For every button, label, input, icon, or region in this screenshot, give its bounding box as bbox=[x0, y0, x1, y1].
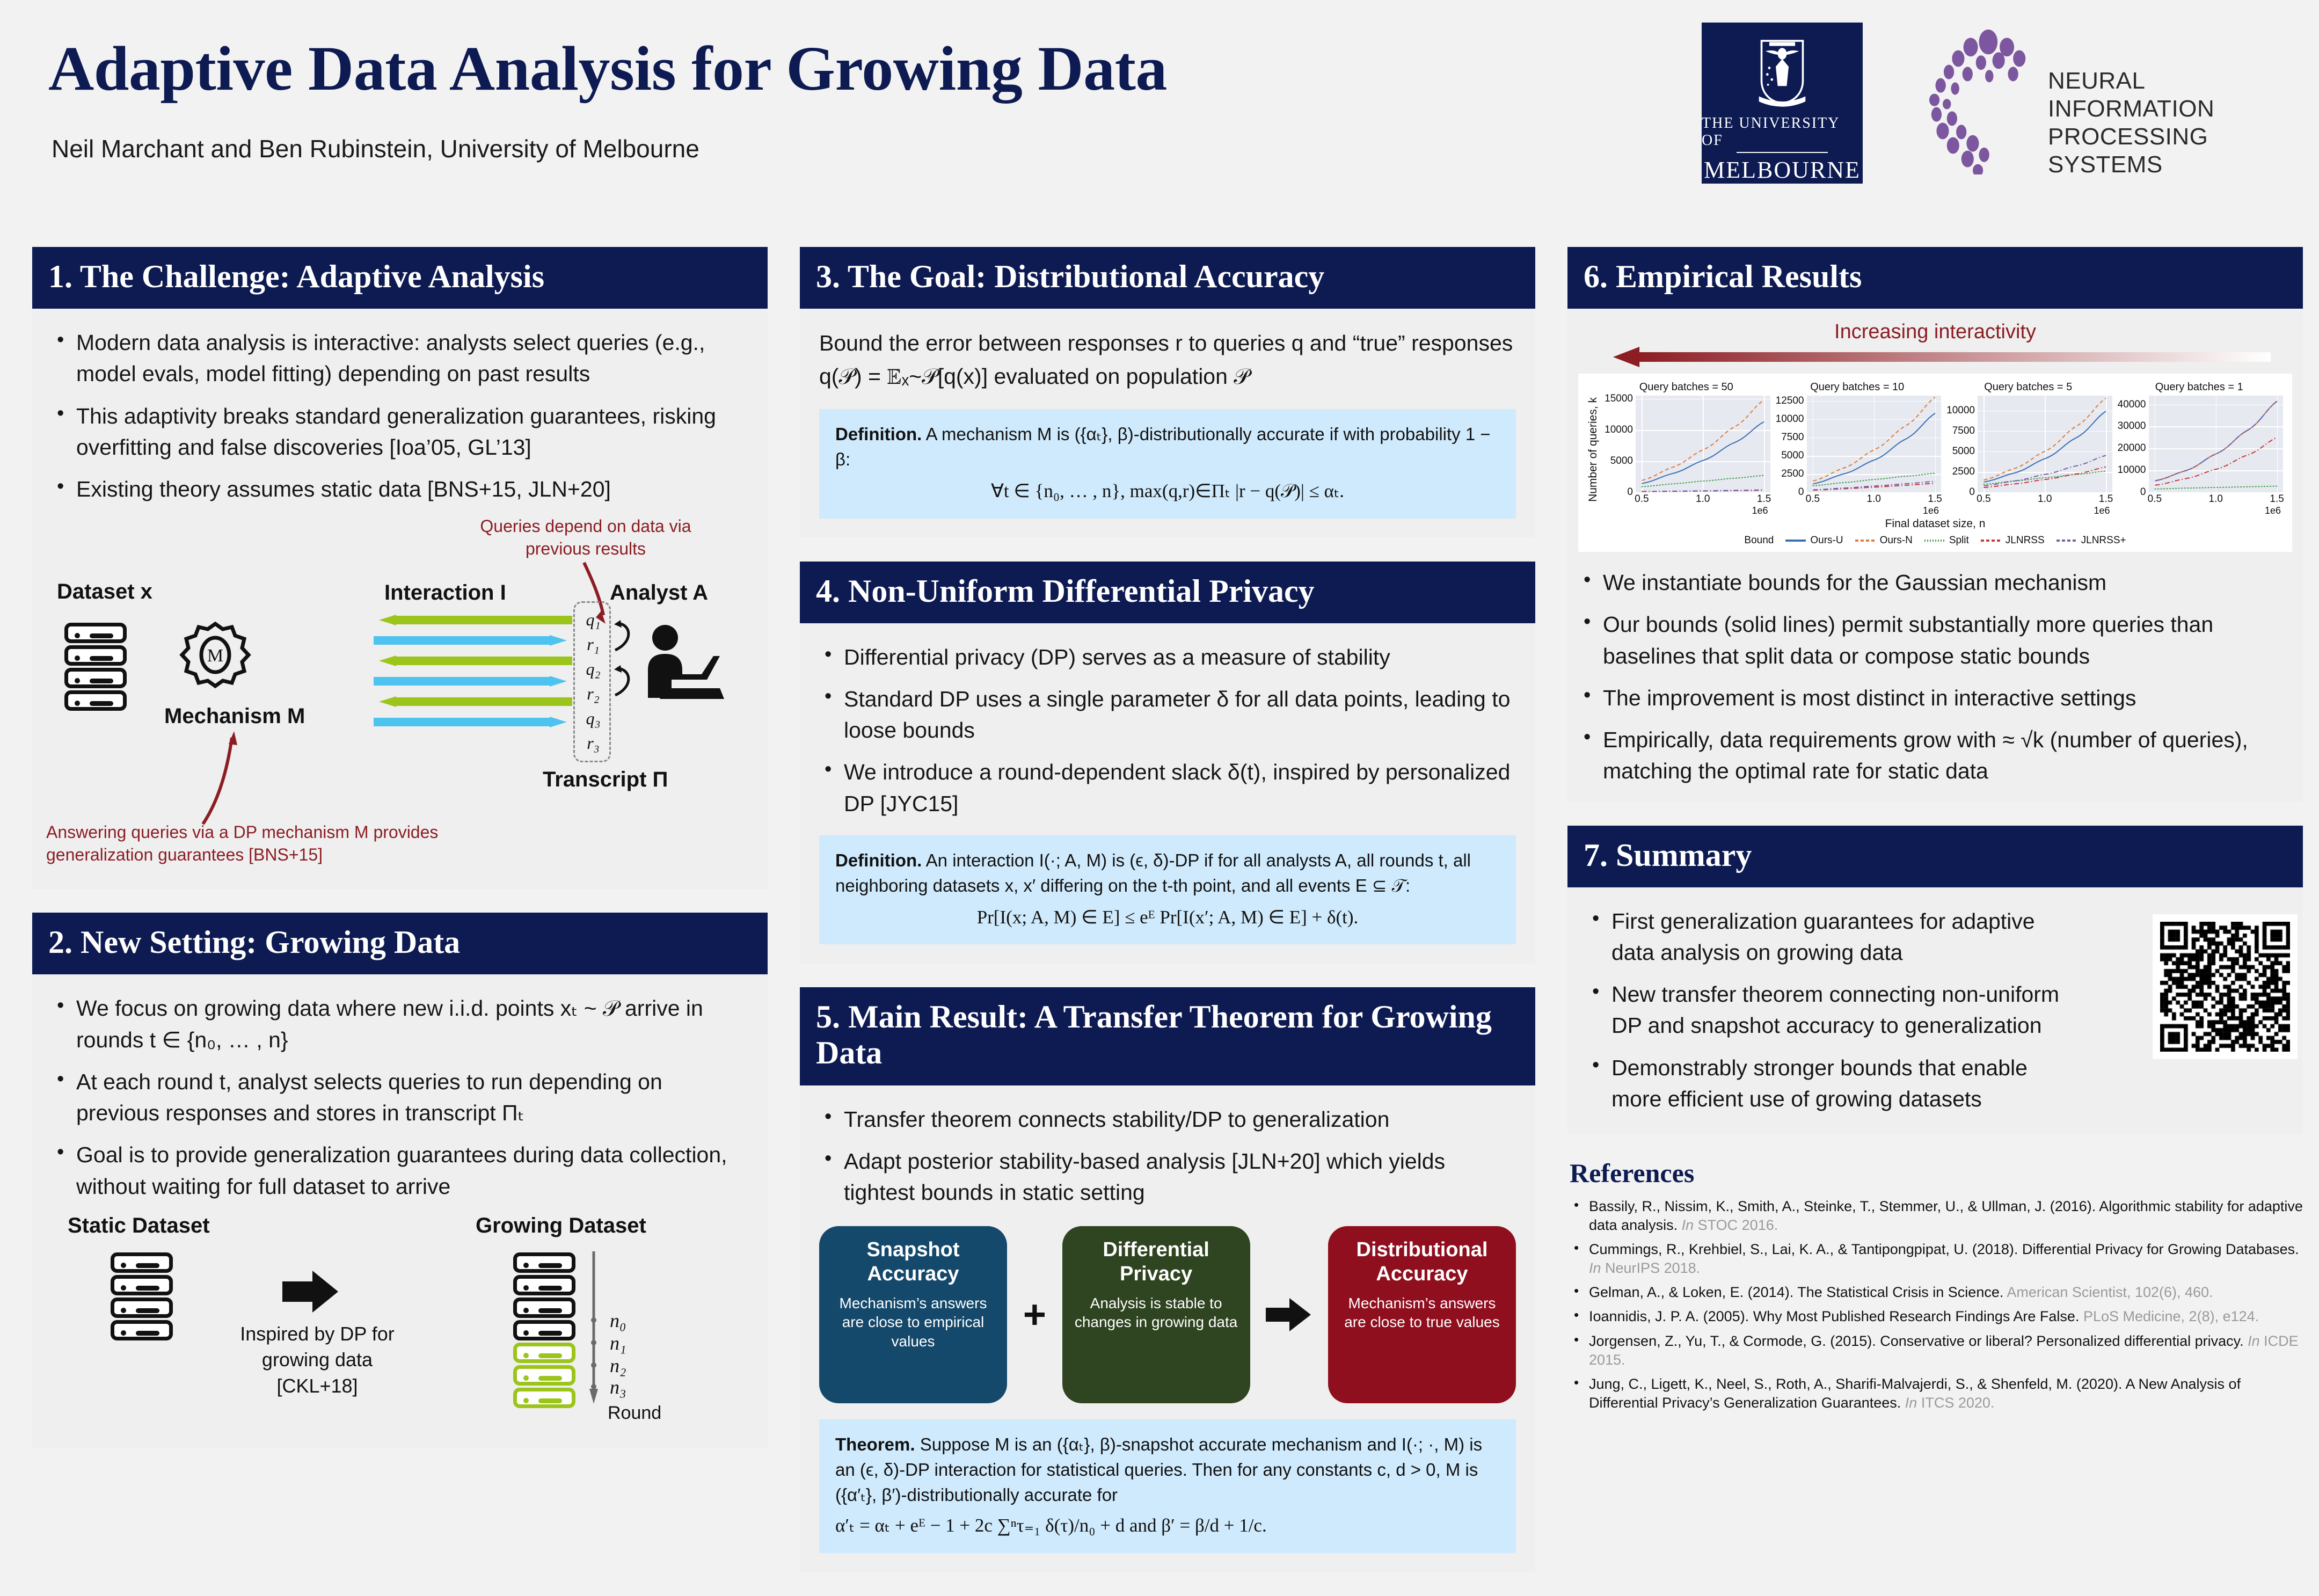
x-ticks: 0.51.01.5 bbox=[1636, 492, 1770, 505]
section-2-bullets: We focus on growing data where new i.i.d… bbox=[52, 993, 748, 1201]
db-unit bbox=[64, 668, 127, 688]
chart-subplot: Query batches = 500500010000150000.51.01… bbox=[1601, 381, 1772, 516]
series-line bbox=[2155, 486, 2277, 489]
interaction-label: Interaction I bbox=[384, 581, 506, 605]
neurips-wordmark-line2: PROCESSING SYSTEMS bbox=[2048, 123, 2298, 179]
increasing-interactivity-label: Increasing interactivity bbox=[1578, 320, 2292, 344]
y-tick-label: 0 bbox=[1969, 486, 1975, 498]
db-unit bbox=[111, 1252, 173, 1273]
neurips-swirl-icon bbox=[1922, 30, 2051, 174]
reference-item: Ioannidis, J. P. A. (2005). Why Most Pub… bbox=[1567, 1307, 2303, 1326]
list-item: At each round t, analyst selects queries… bbox=[52, 1066, 748, 1128]
x-tick-label: 1.0 bbox=[2209, 493, 2223, 505]
section-3-goal: 3. The Goal: Distributional Accuracy Bou… bbox=[800, 247, 1535, 538]
section-4-bullets: Differential privacy (DP) serves as a me… bbox=[819, 642, 1516, 819]
neurips-wordmark: NEURAL INFORMATION PROCESSING SYSTEMS bbox=[2048, 67, 2298, 179]
flow-box-title: Distributional Accuracy bbox=[1336, 1238, 1508, 1286]
subplot-title: Query batches = 50 bbox=[1602, 381, 1770, 393]
diagram-annotation-top: Queries depend on data via previous resu… bbox=[460, 515, 712, 560]
list-item: Existing theory assumes static data [BNS… bbox=[52, 473, 748, 505]
neurips-wordmark-line1: NEURAL INFORMATION bbox=[2048, 67, 2298, 123]
interaction-diagram: Queries depend on data via previous resu… bbox=[52, 515, 748, 870]
interactivity-gradient-arrow bbox=[1610, 346, 2271, 368]
flow-box-title: Differential Privacy bbox=[1070, 1238, 1243, 1286]
empirical-results-chart: Number of queries, k Query batches = 500… bbox=[1578, 374, 2292, 552]
references-section: References Bassily, R., Nissim, K., Smit… bbox=[1567, 1157, 2303, 1412]
chart-y-axis-label: Number of queries, k bbox=[1586, 381, 1601, 506]
db-unit bbox=[513, 1320, 575, 1340]
y-tick-label: 10000 bbox=[2118, 464, 2146, 476]
x-tick-label: 1.5 bbox=[1757, 493, 1771, 505]
y-ticks: 025005000750010000 bbox=[1944, 396, 1978, 492]
x-tick-label: 0.5 bbox=[2148, 493, 2162, 505]
transcript-item: q₃ bbox=[578, 709, 609, 728]
growing-dataset-stack-icon bbox=[513, 1252, 575, 1408]
db-unit-new bbox=[513, 1388, 575, 1408]
unimelb-wordmark-line1: THE UNIVERSITY OF bbox=[1702, 115, 1863, 149]
column-middle: 3. The Goal: Distributional Accuracy Bou… bbox=[800, 247, 1535, 1596]
flow-box-snapshot-accuracy: Snapshot Accuracy Mechanism’s answers ar… bbox=[819, 1226, 1007, 1403]
plot-area bbox=[1978, 396, 2112, 492]
references-title: References bbox=[1570, 1157, 2303, 1189]
legend-item: Ours-N bbox=[1855, 535, 1913, 546]
x-axis-exponent: 1e6 bbox=[1774, 505, 1939, 516]
definition-box-nonuniform-dp: Definition. An interaction I(·; A, M) is… bbox=[819, 835, 1516, 944]
db-unit bbox=[513, 1298, 575, 1318]
section-3-body: Bound the error between responses r to q… bbox=[800, 309, 1535, 537]
definition-body: A mechanism M is ({αₜ}, β)-distributiona… bbox=[835, 424, 1491, 469]
legend-swatch bbox=[1855, 540, 1876, 542]
column-left: 1. The Challenge: Adaptive Analysis Mode… bbox=[32, 247, 768, 1471]
section-2-new-setting: 2. New Setting: Growing Data We focus on… bbox=[32, 913, 768, 1448]
references-list: Bassily, R., Nissim, K., Smith, A., Stei… bbox=[1567, 1197, 2303, 1412]
analyst-person-icon bbox=[639, 623, 731, 719]
chart-subplot: Query batches = 100250050007500100001250… bbox=[1772, 381, 1943, 516]
flow-box-subtitle: Analysis is stable to changes in growing… bbox=[1070, 1294, 1243, 1332]
y-tick-label: 0 bbox=[1798, 486, 1804, 498]
y-tick-label: 2500 bbox=[1952, 466, 1975, 478]
list-item: Adapt posterior stability-based analysis… bbox=[819, 1146, 1516, 1208]
mechanism-gear-icon: M bbox=[178, 621, 253, 696]
list-item: Our bounds (solid lines) permit substant… bbox=[1578, 609, 2292, 671]
y-tick-label: 7500 bbox=[1781, 432, 1804, 443]
mechanism-label: Mechanism M bbox=[164, 704, 305, 728]
y-tick-label: 0 bbox=[2140, 486, 2146, 498]
flow-box-title: Snapshot Accuracy bbox=[827, 1238, 1000, 1286]
y-tick-label: 10000 bbox=[1946, 405, 1975, 417]
chart-x-axis-label: Final dataset size, n bbox=[1586, 518, 2285, 530]
chart-legend: BoundOurs-UOurs-NSplitJLNRSSJLNRSS+ bbox=[1586, 535, 2285, 546]
section-2-heading: 2. New Setting: Growing Data bbox=[32, 913, 768, 974]
section-1-body: Modern data analysis is interactive: ana… bbox=[32, 309, 768, 889]
definition-equation: Pr[I(x; A, M) ∈ E] ≤ eᴱ Pr[I(x′; A, M) ∈… bbox=[835, 904, 1500, 931]
chart-plot-row: Number of queries, k Query batches = 500… bbox=[1586, 381, 2285, 516]
theorem-equation: α′ₜ = αₜ + eᴱ − 1 + 2c ∑ⁿτ₌₁ δ(τ)/n₀ + d… bbox=[835, 1512, 1500, 1539]
unimelb-wordmark-line2: MELBOURNE bbox=[1704, 156, 1861, 184]
subplot-title: Query batches = 5 bbox=[1944, 381, 2112, 393]
legend-swatch bbox=[2057, 540, 2077, 542]
section-4-nonuniform-dp: 4. Non-Uniform Differential Privacy Diff… bbox=[800, 562, 1535, 964]
melbourne-crest-icon bbox=[1742, 34, 1822, 112]
reference-item: Bassily, R., Nissim, K., Smith, A., Stei… bbox=[1567, 1197, 2303, 1235]
x-tick-label: 0.5 bbox=[1977, 493, 1990, 505]
y-ticks: 050001000015000 bbox=[1602, 396, 1636, 492]
y-ticks: 010000200003000040000 bbox=[2116, 396, 2149, 492]
db-unit bbox=[111, 1320, 173, 1340]
section-7-summary: 7. Summary First generalization guarante… bbox=[1567, 826, 2303, 1134]
list-item: First generalization guarantees for adap… bbox=[1587, 906, 2070, 968]
x-tick-label: 1.0 bbox=[1867, 493, 1881, 505]
list-item: This adaptivity breaks standard generali… bbox=[52, 400, 748, 463]
series-line bbox=[1813, 397, 1935, 481]
x-tick-label: 0.5 bbox=[1806, 493, 1820, 505]
definition-box-distributional-accuracy: Definition. A mechanism M is ({αₜ}, β)-d… bbox=[819, 409, 1516, 518]
transcript-items: q₁ r₁ q₂ r₂ q₃ r₃ bbox=[578, 610, 609, 753]
static-dataset-stack-icon bbox=[111, 1252, 173, 1340]
flow-box-subtitle: Mechanism’s answers are close to true va… bbox=[1336, 1294, 1508, 1332]
legend-label: JLNRSS+ bbox=[2081, 535, 2126, 546]
transcript-item: q₁ bbox=[578, 610, 609, 630]
definition-equation: ∀t ∈ {n₀, … , n}, max(q,r)∈Πₜ |r − q(𝒫)|… bbox=[835, 478, 1500, 505]
neurips-logo: NEURAL INFORMATION PROCESSING SYSTEMS bbox=[1922, 30, 2298, 174]
section-3-heading: 3. The Goal: Distributional Accuracy bbox=[800, 247, 1535, 309]
legend-swatch bbox=[1785, 540, 1806, 542]
db-unit bbox=[111, 1298, 173, 1318]
x-tick-label: 1.5 bbox=[2270, 493, 2284, 505]
section-4-body: Differential privacy (DP) serves as a me… bbox=[800, 623, 1535, 964]
theorem-box: Theorem. Suppose M is an ({αₜ}, β)-snaps… bbox=[819, 1419, 1516, 1553]
series-line bbox=[1642, 490, 1764, 492]
list-item: New transfer theorem connecting non-unif… bbox=[1587, 979, 2070, 1041]
section-2-body: We focus on growing data where new i.i.d… bbox=[32, 974, 768, 1447]
svg-text:M: M bbox=[207, 646, 223, 666]
y-tick-label: 40000 bbox=[2118, 399, 2146, 411]
db-unit bbox=[513, 1252, 575, 1273]
author-line: Neil Marchant and Ben Rubinstein, Univer… bbox=[52, 134, 699, 163]
x-axis-exponent: 1e6 bbox=[1602, 505, 1768, 516]
annotation-arrow-bottom-icon bbox=[192, 730, 257, 827]
y-tick-label: 15000 bbox=[1605, 393, 1633, 405]
y-tick-label: 12500 bbox=[1776, 395, 1804, 407]
y-tick-label: 5000 bbox=[1781, 450, 1804, 462]
chart-subplot: Query batches = 50250050007500100000.51.… bbox=[1943, 381, 2114, 516]
list-item: Goal is to provide generalization guaran… bbox=[52, 1139, 748, 1201]
series-lines bbox=[2149, 396, 2284, 492]
definition-lead: Definition. bbox=[835, 850, 922, 870]
legend-label: Ours-U bbox=[1810, 535, 1843, 546]
round-axis-label: Round bbox=[608, 1403, 661, 1424]
legend-item: Ours-U bbox=[1785, 535, 1843, 546]
list-item: We focus on growing data where new i.i.d… bbox=[52, 993, 748, 1055]
section-5-heading: 5. Main Result: A Transfer Theorem for G… bbox=[800, 987, 1535, 1085]
section-7-body: First generalization guarantees for adap… bbox=[1567, 887, 2303, 1134]
list-item: The improvement is most distinct in inte… bbox=[1578, 682, 2292, 713]
db-unit bbox=[111, 1275, 173, 1295]
y-tick-label: 5000 bbox=[1952, 446, 1975, 457]
analyst-label: Analyst A bbox=[610, 581, 708, 605]
university-of-melbourne-logo: THE UNIVERSITY OF MELBOURNE bbox=[1702, 23, 1863, 184]
chart-subplots: Query batches = 500500010000150000.51.01… bbox=[1601, 381, 2285, 516]
y-tick-label: 7500 bbox=[1952, 425, 1975, 437]
section-1-bullets: Modern data analysis is interactive: ana… bbox=[52, 327, 748, 505]
subplot-title: Query batches = 10 bbox=[1774, 381, 1942, 393]
diagram-annotation-bottom: Answering queries via a DP mechanism M p… bbox=[46, 821, 486, 866]
dataset-label: Dataset x bbox=[57, 580, 152, 604]
legend-item: JLNRSS+ bbox=[2057, 535, 2126, 546]
x-tick-label: 0.5 bbox=[1635, 493, 1649, 505]
reference-item: Jung, C., Ligett, K., Neel, S., Roth, A.… bbox=[1567, 1375, 2303, 1412]
chart-subplot: Query batches = 10100002000030000400000.… bbox=[2114, 381, 2285, 516]
growing-dataset-diagram: Static Dataset Inspired by DP for growin… bbox=[52, 1214, 748, 1429]
y-tick-label: 2500 bbox=[1781, 468, 1804, 480]
section-3-paragraph: Bound the error between responses r to q… bbox=[819, 327, 1516, 393]
plus-icon: + bbox=[1023, 1295, 1046, 1335]
legend-item: Split bbox=[1924, 535, 1969, 546]
round-label-n0: n₀ bbox=[610, 1309, 626, 1332]
series-lines bbox=[1978, 396, 2112, 492]
list-item: Transfer theorem connects stability/DP t… bbox=[819, 1104, 1516, 1135]
plot-area bbox=[1807, 396, 1942, 492]
transcript-item: q₂ bbox=[578, 659, 609, 679]
y-tick-label: 20000 bbox=[2118, 442, 2146, 454]
db-unit-new bbox=[513, 1365, 575, 1386]
section-6-heading: 6. Empirical Results bbox=[1567, 247, 2303, 309]
transcript-item: r₂ bbox=[578, 684, 609, 704]
series-lines bbox=[1636, 396, 1770, 492]
theorem-body: Suppose M is an ({αₜ}, β)-snapshot accur… bbox=[835, 1434, 1482, 1505]
definition-lead: Definition. bbox=[835, 424, 922, 444]
definition-body: An interaction I(·; A, M) is (ϵ, δ)-DP i… bbox=[835, 850, 1471, 895]
transition-arrow-icon bbox=[282, 1267, 341, 1316]
reference-item: Jorgensen, Z., Yu, T., & Cormode, G. (20… bbox=[1567, 1332, 2303, 1369]
db-unit bbox=[64, 623, 127, 643]
legend-item: JLNRSS bbox=[1981, 535, 2045, 546]
plot-area bbox=[1636, 396, 1770, 492]
growing-dataset-label: Growing Dataset bbox=[476, 1214, 646, 1238]
round-label-n2: n₂ bbox=[610, 1354, 626, 1377]
implies-arrow-icon bbox=[1266, 1296, 1312, 1333]
transfer-flow-diagram: Snapshot Accuracy Mechanism’s answers ar… bbox=[819, 1226, 1516, 1403]
column-right: 6. Empirical Results Increasing interact… bbox=[1567, 247, 2303, 1418]
x-tick-label: 1.5 bbox=[1928, 493, 1942, 505]
list-item: We instantiate bounds for the Gaussian m… bbox=[1578, 567, 2292, 598]
transcript-label: Transcript Π bbox=[543, 768, 668, 792]
x-ticks: 0.51.01.5 bbox=[1978, 492, 2112, 505]
list-item: Empirically, data requirements grow with… bbox=[1578, 724, 2292, 786]
round-label-n1: n₁ bbox=[610, 1332, 626, 1354]
poster-root: Adaptive Data Analysis for Growing Data … bbox=[0, 0, 2319, 1546]
section-5-body: Transfer theorem connects stability/DP t… bbox=[800, 1085, 1535, 1572]
round-label-n3: n₃ bbox=[610, 1376, 626, 1398]
series-line bbox=[1642, 422, 1764, 484]
section-6-bullets: We instantiate bounds for the Gaussian m… bbox=[1578, 567, 2292, 786]
flow-box-distributional-accuracy: Distributional Accuracy Mechanism’s answ… bbox=[1328, 1226, 1516, 1403]
theorem-lead: Theorem. bbox=[835, 1434, 915, 1454]
list-item: Demonstrably stronger bounds that enable… bbox=[1587, 1052, 2070, 1114]
flow-box-subtitle: Mechanism’s answers are close to empiric… bbox=[827, 1294, 1000, 1351]
y-tick-label: 30000 bbox=[2118, 420, 2146, 432]
x-ticks: 0.51.01.5 bbox=[1807, 492, 1942, 505]
legend-label: Split bbox=[1949, 535, 1969, 546]
series-line bbox=[1642, 476, 1764, 487]
list-item: Differential privacy (DP) serves as a me… bbox=[819, 642, 1516, 673]
section-6-body: Increasing interactivity Num bbox=[1567, 309, 2303, 801]
plot-area bbox=[2149, 396, 2284, 492]
db-unit bbox=[513, 1275, 575, 1295]
y-tick-label: 10000 bbox=[1605, 424, 1633, 436]
x-ticks: 0.51.01.5 bbox=[2149, 492, 2284, 505]
diagram-caption: Inspired by DP for growing data [CKL+18] bbox=[229, 1321, 406, 1400]
series-line bbox=[1983, 398, 2106, 480]
qr-code[interactable] bbox=[2153, 914, 2298, 1059]
series-line bbox=[1642, 400, 1764, 480]
interaction-arrows bbox=[374, 615, 572, 744]
round-axis-icon bbox=[588, 1251, 603, 1407]
series-lines bbox=[1807, 396, 1942, 492]
transcript-item: r₃ bbox=[578, 733, 609, 753]
legend-label: JLNRSS bbox=[2006, 535, 2045, 546]
x-tick-label: 1.0 bbox=[2038, 493, 2052, 505]
y-ticks: 02500500075001000012500 bbox=[1774, 396, 1807, 492]
static-dataset-label: Static Dataset bbox=[68, 1214, 210, 1238]
section-7-bullets: First generalization guarantees for adap… bbox=[1587, 906, 2070, 1114]
page-title: Adaptive Data Analysis for Growing Data bbox=[48, 32, 1167, 105]
legend-label: Ours-N bbox=[1880, 535, 1913, 546]
dataset-stack-icon bbox=[64, 623, 127, 711]
section-5-bullets: Transfer theorem connects stability/DP t… bbox=[819, 1104, 1516, 1208]
x-tick-label: 1.0 bbox=[1696, 493, 1710, 505]
reference-item: Gelman, A., & Loken, E. (2014). The Stat… bbox=[1567, 1283, 2303, 1302]
db-unit bbox=[64, 645, 127, 666]
series-line bbox=[1813, 482, 1935, 490]
reference-item: Cummings, R., Krehbiel, S., Lai, K. A., … bbox=[1567, 1240, 2303, 1278]
section-5-main-result: 5. Main Result: A Transfer Theorem for G… bbox=[800, 987, 1535, 1572]
poster-header: Adaptive Data Analysis for Growing Data … bbox=[0, 0, 2319, 215]
series-line bbox=[1983, 456, 2106, 486]
x-axis-exponent: 1e6 bbox=[1944, 505, 2110, 516]
section-1-heading: 1. The Challenge: Adaptive Analysis bbox=[32, 247, 768, 309]
section-7-heading: 7. Summary bbox=[1567, 826, 2303, 887]
y-tick-label: 0 bbox=[1627, 486, 1633, 498]
legend-title: Bound bbox=[1744, 535, 1774, 546]
subplot-title: Query batches = 1 bbox=[2116, 381, 2284, 393]
list-item: Modern data analysis is interactive: ana… bbox=[52, 327, 748, 389]
section-6-empirical-results: 6. Empirical Results Increasing interact… bbox=[1567, 247, 2303, 802]
series-line bbox=[1813, 473, 1935, 486]
db-unit bbox=[64, 690, 127, 711]
section-1-challenge: 1. The Challenge: Adaptive Analysis Mode… bbox=[32, 247, 768, 889]
y-tick-label: 10000 bbox=[1776, 413, 1804, 425]
db-unit-new bbox=[513, 1343, 575, 1363]
y-tick-label: 5000 bbox=[1610, 455, 1633, 467]
legend-swatch bbox=[1924, 540, 1945, 542]
x-axis-exponent: 1e6 bbox=[2116, 505, 2281, 516]
x-tick-label: 1.5 bbox=[2099, 493, 2113, 505]
series-line bbox=[2155, 438, 2277, 485]
list-item: We introduce a round-dependent slack δ(t… bbox=[819, 756, 1516, 819]
list-item: Standard DP uses a single parameter δ fo… bbox=[819, 683, 1516, 746]
section-4-heading: 4. Non-Uniform Differential Privacy bbox=[800, 562, 1535, 623]
legend-swatch bbox=[1981, 540, 2001, 542]
transcript-item: r₁ bbox=[578, 635, 609, 654]
flow-box-differential-privacy: Differential Privacy Analysis is stable … bbox=[1062, 1226, 1250, 1403]
unimelb-divider bbox=[1737, 152, 1828, 153]
